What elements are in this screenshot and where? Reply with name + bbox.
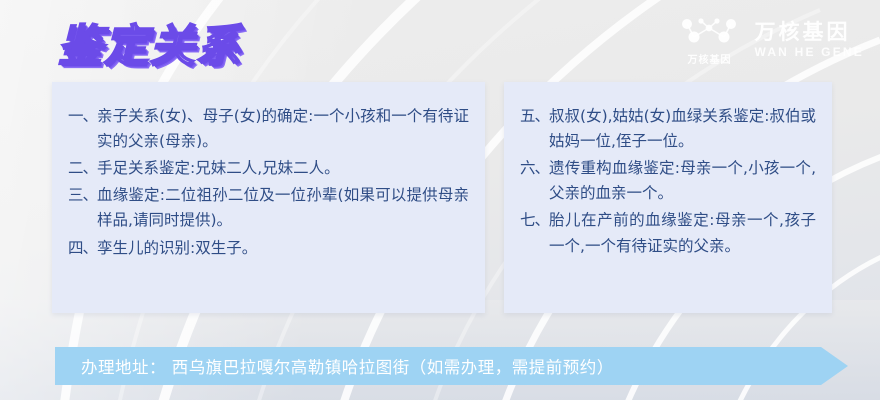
list-item-marker: 五、 (520, 104, 549, 129)
poster-canvas: 鉴定关系 (0, 0, 880, 400)
address-banner: 办理地址： 西乌旗巴拉嘎尔高勒镇哈拉图街（如需办理，需提前预约） (55, 347, 848, 385)
list-item-marker: 七、 (520, 208, 549, 233)
list-item: 四、 孪生儿的识别:双生子。 (68, 236, 469, 261)
list-item: 一、 亲子关系(女)、母子(女)的确定:一个小孩和一个有待证实的父亲(母亲)。 (68, 104, 469, 154)
header: 鉴定关系 (0, 0, 880, 82)
list-item-marker: 六、 (520, 156, 549, 181)
logo-mark-text: 万核基因 (687, 51, 731, 66)
brand-name-en: WAN HE GENE (754, 46, 864, 59)
address-banner-text: 办理地址： 西乌旗巴拉嘎尔高勒镇哈拉图街（如需办理，需提前预约） (81, 347, 614, 385)
brand-logo: 万核基因 万核基因 WAN HE GENE (678, 12, 864, 68)
list-item-text: 亲子关系(女)、母子(女)的确定:一个小孩和一个有待证实的父亲(母亲)。 (97, 104, 469, 154)
list-item-marker: 三、 (68, 183, 97, 208)
list-item-text: 遗传重构血缘鉴定:母亲一个,小孩一个,父亲的血亲一个。 (549, 156, 816, 206)
list-item-marker: 二、 (68, 156, 97, 181)
logo-wordmark: 万核基因 WAN HE GENE (754, 22, 864, 59)
relationship-card-left: 一、 亲子关系(女)、母子(女)的确定:一个小孩和一个有待证实的父亲(母亲)。 … (52, 82, 485, 313)
list-item-text: 胎儿在产前的血缘鉴定:母亲一个,孩子一个,一个有待证实的父亲。 (549, 208, 816, 258)
brand-name-cn: 万核基因 (754, 22, 864, 44)
page-title: 鉴定关系 (58, 10, 242, 74)
list-item-marker: 四、 (68, 236, 97, 261)
content-cards: 一、 亲子关系(女)、母子(女)的确定:一个小孩和一个有待证实的父亲(母亲)。 … (52, 82, 832, 313)
list-item: 五、 叔叔(女),姑姑(女)血绿关系鉴定:叔伯或姑妈一位,侄子一位。 (520, 104, 816, 154)
list-item: 三、 血缘鉴定:二位祖孙二位及一位孙辈(如果可以提供母亲样品,请同时提供)。 (68, 183, 469, 233)
list-item-marker: 一、 (68, 104, 97, 129)
molecule-node-icon (678, 14, 740, 48)
list-item-text: 孪生儿的识别:双生子。 (97, 236, 469, 261)
list-item-text: 手足关系鉴定:兄妹二人,兄妹二人。 (97, 156, 469, 181)
list-item-text: 叔叔(女),姑姑(女)血绿关系鉴定:叔伯或姑妈一位,侄子一位。 (549, 104, 816, 154)
logo-mark: 万核基因 (678, 14, 740, 66)
list-item: 七、 胎儿在产前的血缘鉴定:母亲一个,孩子一个,一个有待证实的父亲。 (520, 208, 816, 258)
list-item: 二、 手足关系鉴定:兄妹二人,兄妹二人。 (68, 156, 469, 181)
list-item: 六、 遗传重构血缘鉴定:母亲一个,小孩一个,父亲的血亲一个。 (520, 156, 816, 206)
relationship-card-right: 五、 叔叔(女),姑姑(女)血绿关系鉴定:叔伯或姑妈一位,侄子一位。 六、 遗传… (504, 82, 832, 313)
list-item-text: 血缘鉴定:二位祖孙二位及一位孙辈(如果可以提供母亲样品,请同时提供)。 (97, 183, 469, 233)
